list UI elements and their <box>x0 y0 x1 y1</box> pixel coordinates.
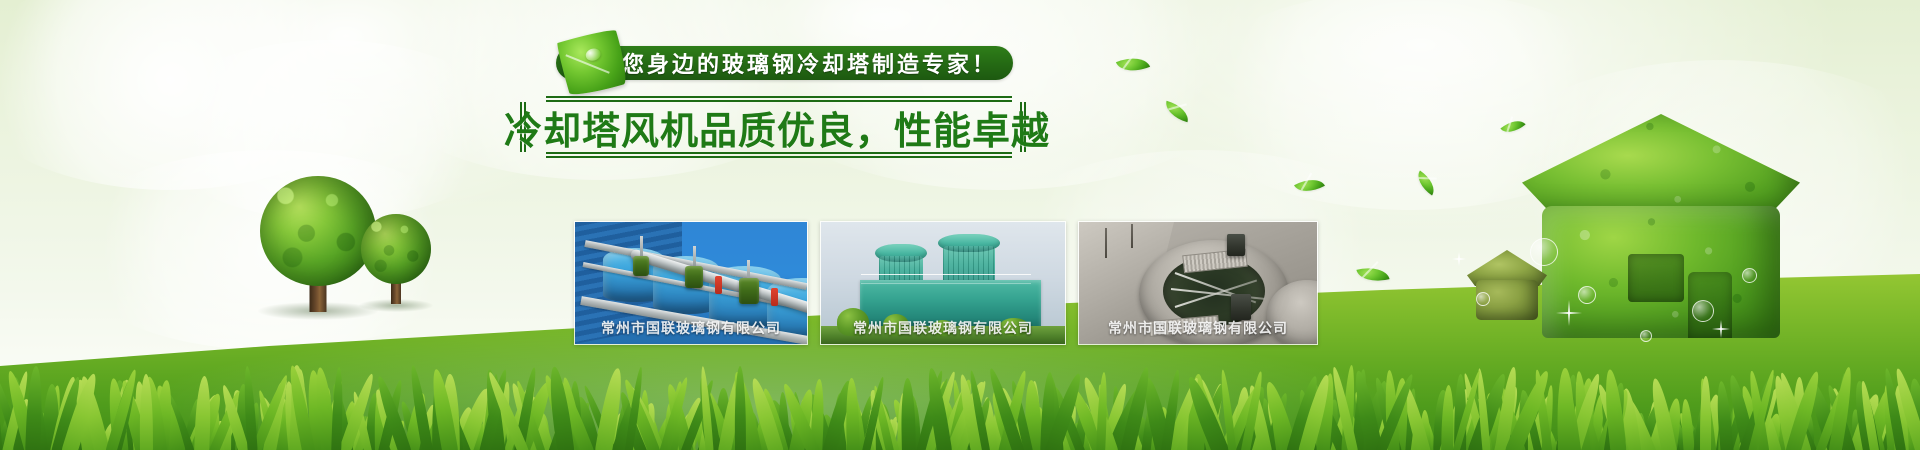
roadside-tree <box>837 308 869 336</box>
roadside-shrub <box>999 318 1029 336</box>
motor-shaft <box>640 236 643 258</box>
red-valve-cap <box>715 276 722 294</box>
product-photo-teal-towers[interactable]: 常州市国联玻璃钢有限公司 <box>820 221 1066 345</box>
utility-post <box>1131 224 1133 248</box>
motor-shaft <box>693 246 696 268</box>
headline-block: 冷却塔风机品质优良，性能卓越 <box>520 96 1012 158</box>
tagline: 您身边的玻璃钢冷却塔制造专家！ <box>556 43 1013 83</box>
fan-motor <box>633 256 649 276</box>
fan-motor <box>1227 234 1245 256</box>
roadside-tree <box>883 314 909 336</box>
product-photo-strip: 常州市国联玻璃钢有限公司 常州市国联玻璃钢有限公司 <box>574 221 1318 345</box>
fan-motor <box>739 278 759 304</box>
roadside-shrub <box>931 320 955 336</box>
fan-motor <box>1231 294 1251 320</box>
headline-text: 冷却塔风机品质优良，性能卓越 <box>542 101 1012 153</box>
roof-railing <box>861 274 1031 284</box>
product-photo-frp-tanks[interactable]: 常州市国联玻璃钢有限公司 <box>574 221 808 345</box>
promo-banner: 您身边的玻璃钢冷却塔制造专家！ 冷却塔风机品质优良，性能卓越 <box>0 0 1920 450</box>
red-valve-cap <box>771 288 778 306</box>
utility-post <box>1105 228 1107 258</box>
product-photo-round-tower-top[interactable]: 常州市国联玻璃钢有限公司 <box>1078 221 1318 345</box>
tagline-text: 您身边的玻璃钢冷却塔制造专家！ <box>622 47 997 79</box>
tagline-pill: 您身边的玻璃钢冷却塔制造专家！ <box>556 46 1013 80</box>
fan-motor <box>685 266 703 288</box>
